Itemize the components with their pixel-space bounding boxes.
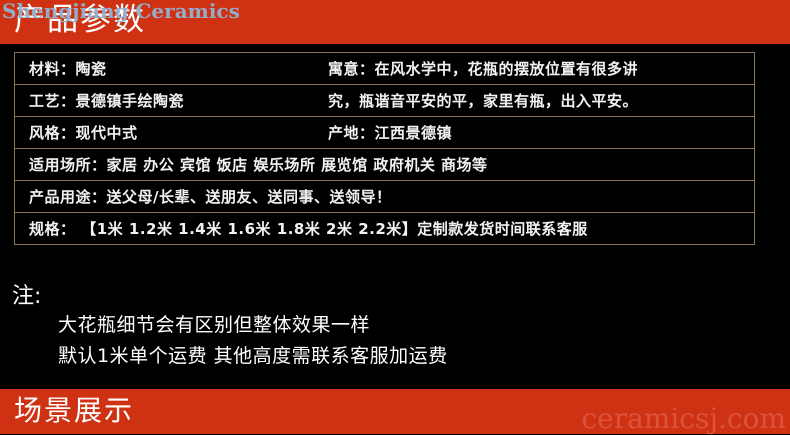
spec-cell-usage: 产品用途：送父母/长辈、送朋友、送同事、送领导！ <box>15 181 754 213</box>
note-line: 默认1米单个运费 其他高度需联系客服加运费 <box>58 341 448 372</box>
notes-label: 注: <box>12 284 41 310</box>
table-row: 材料：陶瓷 寓意：在风水学中，花瓶的摆放位置有很多讲 <box>15 53 754 85</box>
spec-cell-craft: 工艺：景德镇手绘陶瓷 <box>15 85 328 117</box>
table-row: 风格：现代中式 产地：江西景德镇 <box>15 117 754 149</box>
footer-title: 场景展示 <box>14 391 134 431</box>
note-line: 大花瓶细节会有区别但整体效果一样 <box>58 310 448 341</box>
spec-cell-sizes: 规格： 【1米 1.2米 1.4米 1.6米 1.8米 2米 2.2米】定制款发… <box>15 213 754 245</box>
spec-cell-meaning-line1: 寓意：在风水学中，花瓶的摆放位置有很多讲 <box>328 53 754 85</box>
spec-cell-venues: 适用场所：家居 办公 宾馆 饭店 娱乐场所 展览馆 政府机关 商场等 <box>15 149 754 181</box>
spec-cell-material: 材料：陶瓷 <box>15 53 328 85</box>
product-spec-page: 产品参数 Shengjiang Ceramics 材料：陶瓷 寓意：在风水学中，… <box>0 0 790 434</box>
table-row: 适用场所：家居 办公 宾馆 饭店 娱乐场所 展览馆 政府机关 商场等 <box>15 149 754 181</box>
table-row: 规格： 【1米 1.2米 1.4米 1.6米 1.8米 2米 2.2米】定制款发… <box>15 213 754 245</box>
brand-watermark: Shengjiang Ceramics <box>2 1 240 21</box>
site-watermark: ceramicsj.com <box>581 404 786 434</box>
table-row: 工艺：景德镇手绘陶瓷 究，瓶谐音平安的平，家里有瓶，出入平安。 <box>15 85 754 117</box>
spec-cell-meaning-line2: 究，瓶谐音平安的平，家里有瓶，出入平安。 <box>328 85 754 117</box>
notes-lines: 大花瓶细节会有区别但整体效果一样 默认1米单个运费 其他高度需联系客服加运费 <box>58 310 448 372</box>
spec-cell-style: 风格：现代中式 <box>15 117 328 149</box>
table-row: 产品用途：送父母/长辈、送朋友、送同事、送领导！ <box>15 181 754 213</box>
spec-cell-origin: 产地：江西景德镇 <box>328 117 754 149</box>
spec-table: 材料：陶瓷 寓意：在风水学中，花瓶的摆放位置有很多讲 工艺：景德镇手绘陶瓷 究，… <box>14 52 755 245</box>
